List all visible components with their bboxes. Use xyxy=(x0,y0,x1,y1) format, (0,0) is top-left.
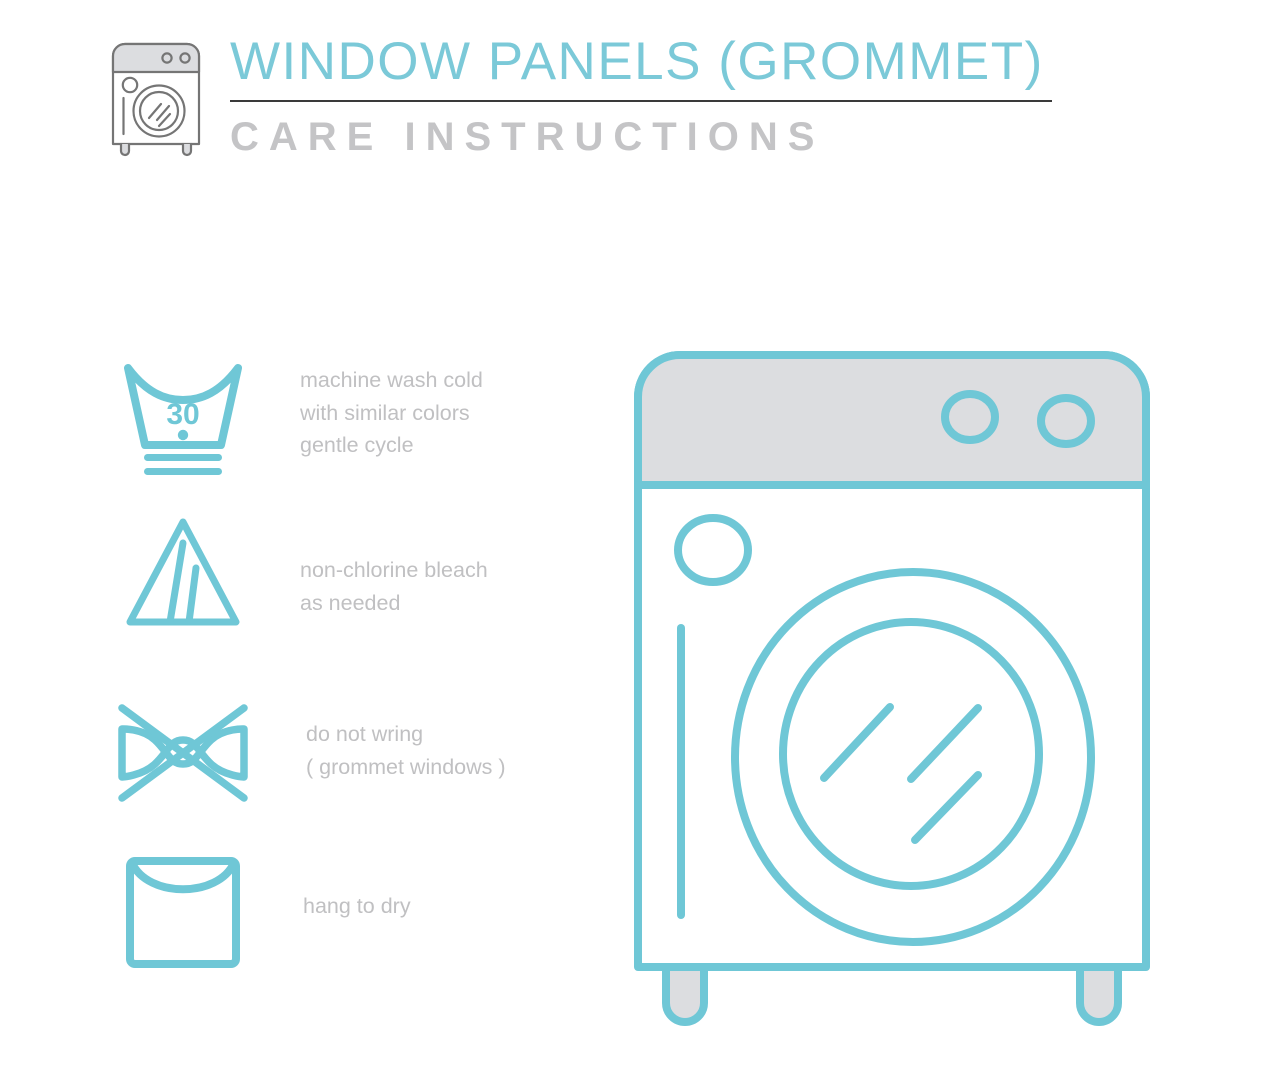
page-header: WINDOW PANELS (GROMMET) CARE INSTRUCTION… xyxy=(108,28,1068,168)
machine-leg-right xyxy=(1080,965,1118,1022)
hang-to-dry-square-icon xyxy=(108,850,258,975)
care-row-wash: 30 machine wash cold with similar colors… xyxy=(108,358,608,483)
machine-wash-basin-icon: 30 xyxy=(108,358,258,483)
header-text-block: WINDOW PANELS (GROMMET) CARE INSTRUCTION… xyxy=(230,28,1060,166)
wash-temperature-label: 30 xyxy=(166,398,199,431)
page-subtitle: CARE INSTRUCTIONS xyxy=(230,102,1060,166)
machine-control-panel xyxy=(638,355,1146,485)
do-not-wring-icon xyxy=(108,690,258,815)
care-row-wring: do not wring ( grommet windows ) xyxy=(108,690,608,815)
washing-machine-logo-icon xyxy=(108,32,204,160)
machine-leg-left xyxy=(666,965,704,1022)
non-chlorine-bleach-triangle-icon xyxy=(108,510,258,635)
care-text-wash: machine wash cold with similar colors ge… xyxy=(300,364,483,462)
washing-machine-illustration xyxy=(628,345,1184,1045)
care-text-dry: hang to dry xyxy=(303,890,411,923)
page-title: WINDOW PANELS (GROMMET) xyxy=(230,28,1060,100)
care-text-wring: do not wring ( grommet windows ) xyxy=(306,718,506,783)
care-row-dry: hang to dry xyxy=(108,850,608,975)
care-text-bleach: non-chlorine bleach as needed xyxy=(300,554,488,619)
care-row-bleach: non-chlorine bleach as needed xyxy=(108,510,608,635)
